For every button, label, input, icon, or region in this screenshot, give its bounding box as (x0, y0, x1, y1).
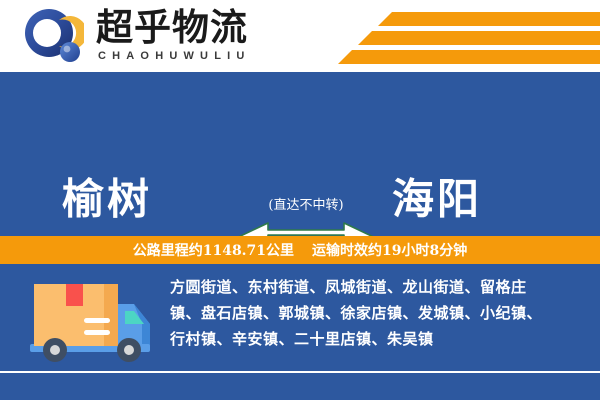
chaohu-circle-logo-icon (22, 6, 84, 66)
brand-name-en: CHAOHUWULIU (98, 50, 251, 62)
delivery-truck-icon (22, 276, 162, 366)
duration-text: 运输时效约19小时8分钟 (312, 240, 467, 260)
logistics-route-card: 超乎物流 CHAOHUWULIU 榆树 海阳 (直达不中转) 【往返运输】 公路… (0, 0, 600, 400)
destination-city: 海阳 (392, 166, 482, 227)
coverage-line-3: 行村镇、辛安镇、二十里店镇、朱吴镇 (170, 326, 588, 352)
origin-city: 榆树 (62, 166, 152, 227)
distance-text: 公路里程约1148.71公里 (133, 240, 294, 260)
coverage-line-1: 方圆街道、东村街道、凤城街道、龙山街道、留格庄 (170, 274, 588, 300)
coverage-section: 方圆街道、东村街道、凤城街道、龙山街道、留格庄 镇、盘石店镇、郭城镇、徐家店镇、… (0, 264, 600, 372)
coverage-line-2: 镇、盘石店镇、郭城镇、徐家店镇、发城镇、小纪镇、 (170, 300, 588, 326)
route-note-top: (直达不中转) (228, 194, 384, 213)
footer-bar (0, 373, 600, 400)
distance-duration-banner: 公路里程约1148.71公里 运输时效约19小时8分钟 (0, 236, 600, 264)
brand-name-cn: 超乎物流 (96, 7, 248, 49)
route-section: 榆树 海阳 (直达不中转) 【往返运输】 (0, 72, 600, 236)
header-stripes-decoration (0, 0, 600, 72)
header-bar: 超乎物流 CHAOHUWULIU (0, 0, 600, 72)
coverage-area-list: 方圆街道、东村街道、凤城街道、龙山街道、留格庄 镇、盘石店镇、郭城镇、徐家店镇、… (170, 274, 588, 352)
